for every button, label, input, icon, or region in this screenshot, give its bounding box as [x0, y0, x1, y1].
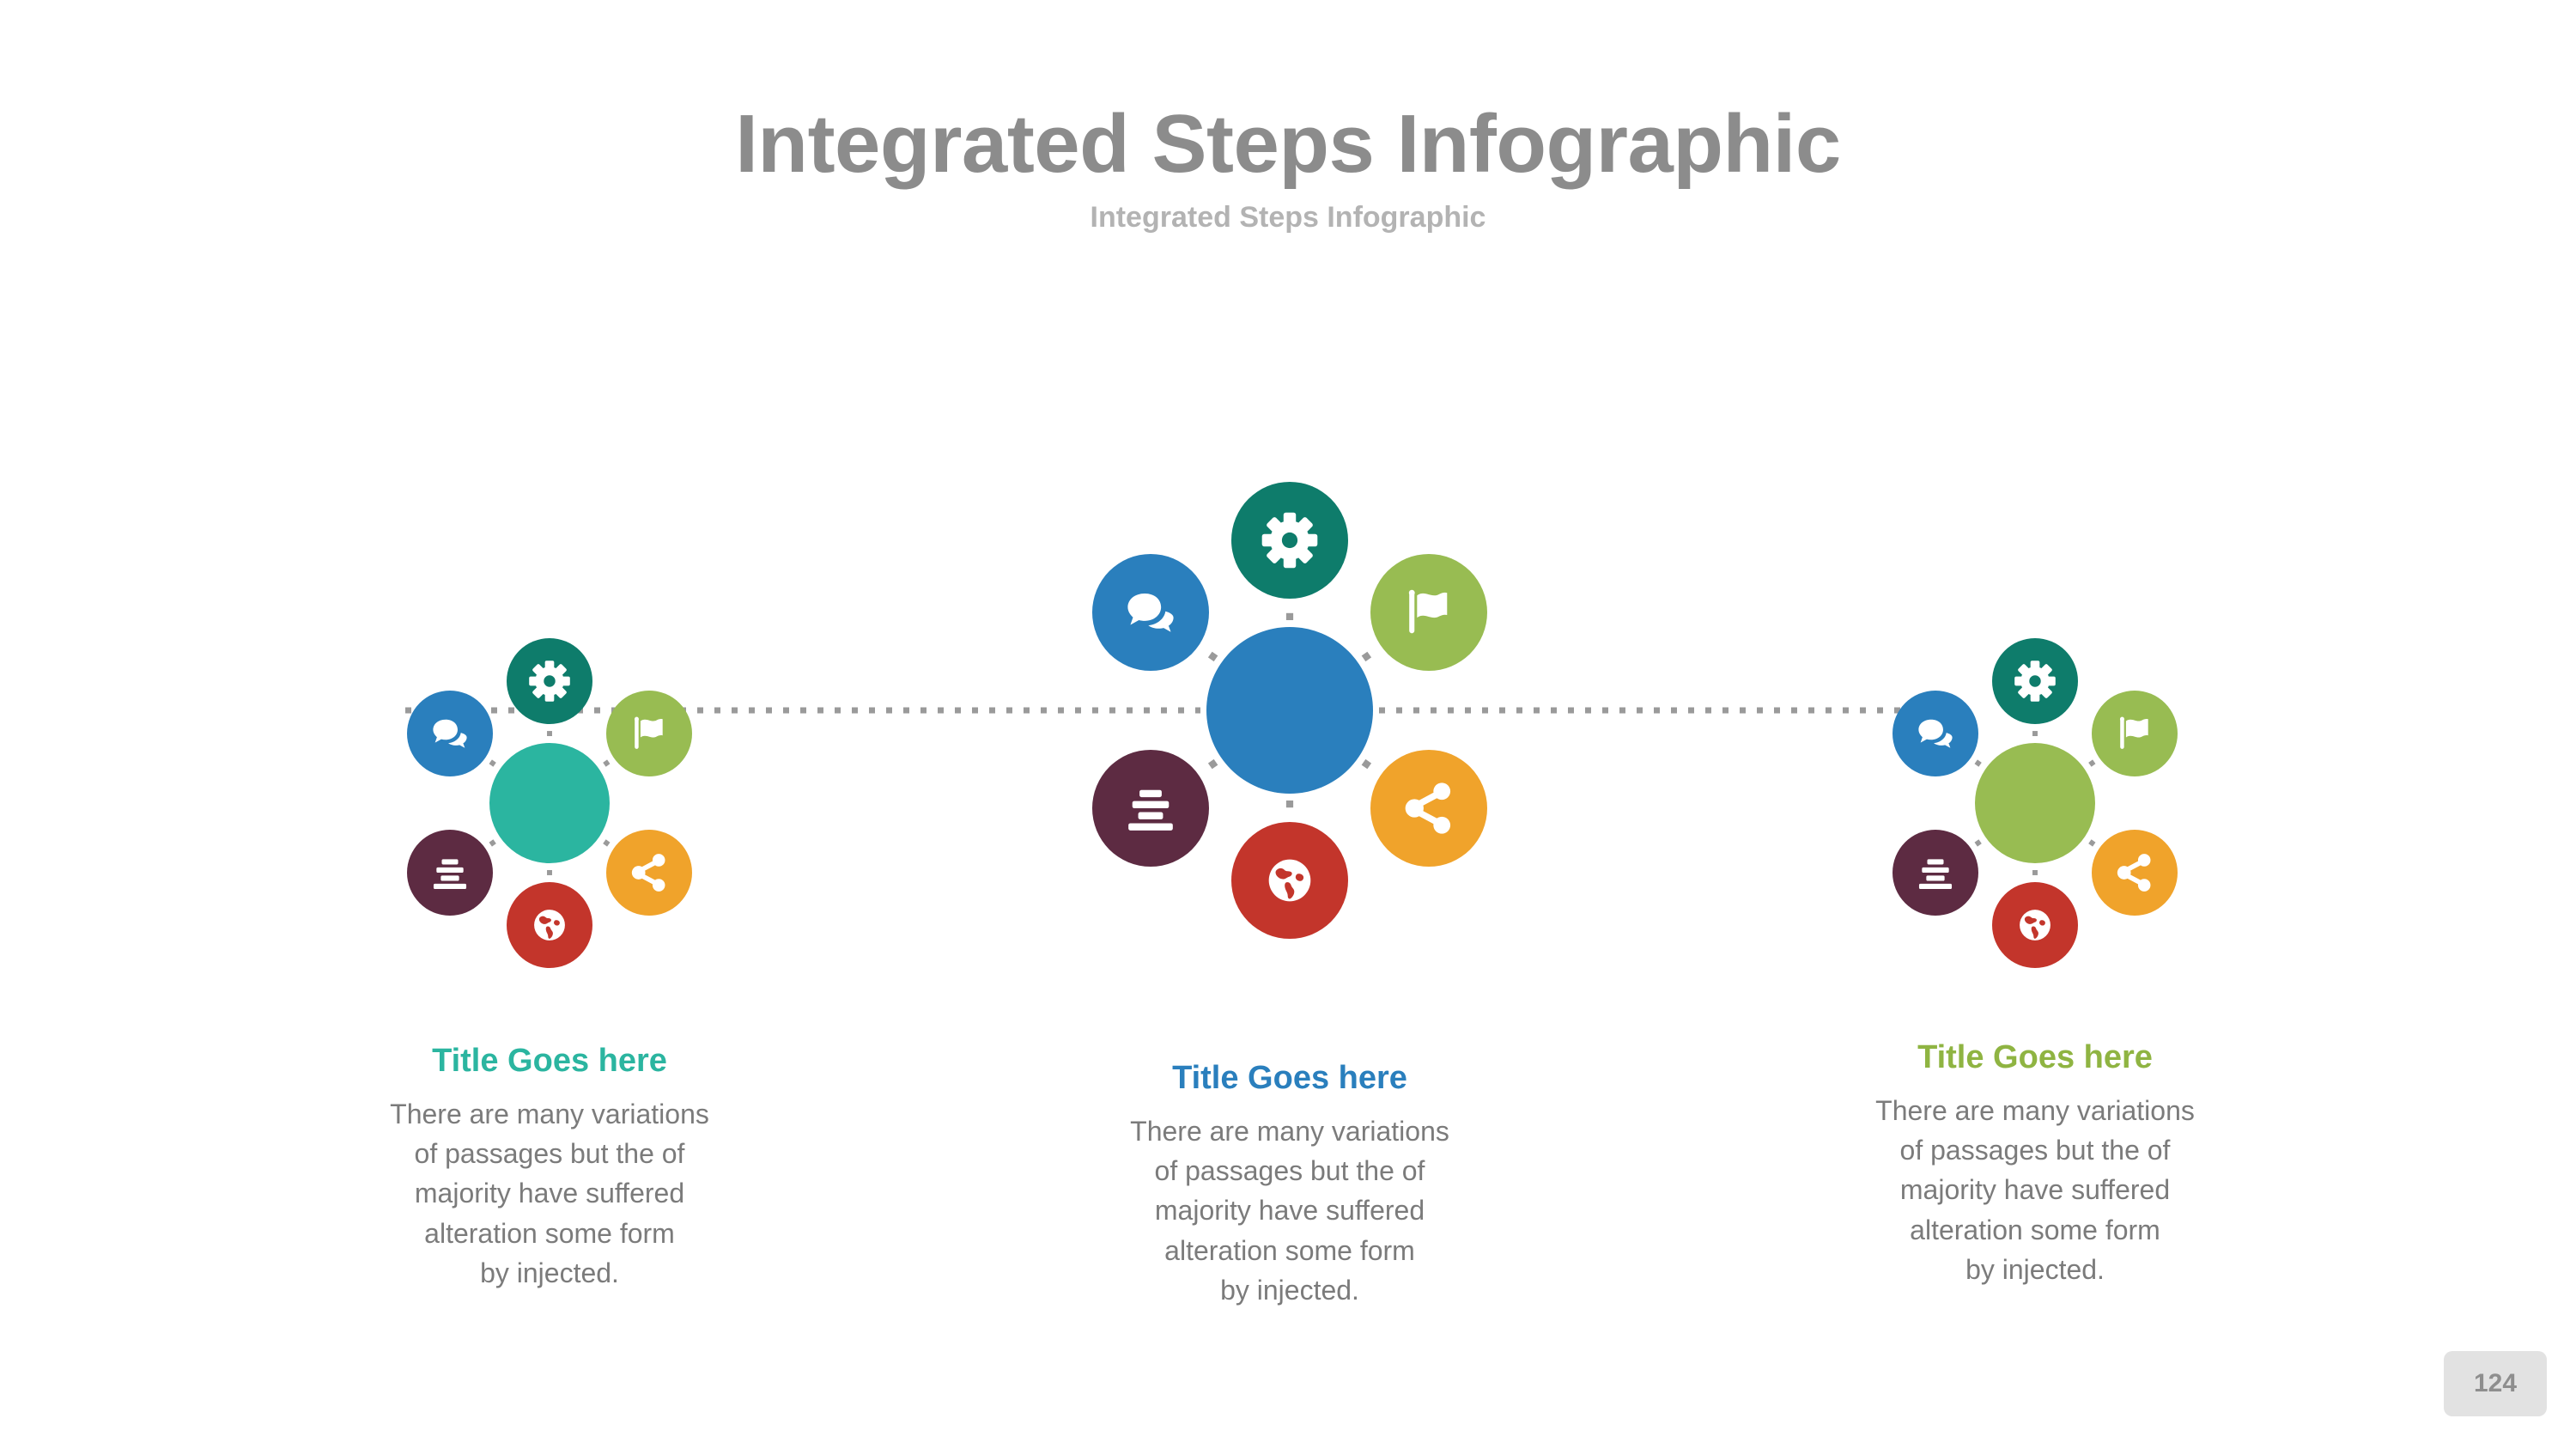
satellite-node-right-share[interactable]	[2092, 830, 2178, 916]
connector-line	[2090, 842, 2094, 844]
caption-body-line: of passages but the of	[309, 1134, 790, 1173]
align-center-icon	[1118, 776, 1183, 841]
caption-body-line: by injected.	[1032, 1270, 1547, 1310]
connector-line	[605, 762, 609, 764]
satellite-node-center-globe[interactable]	[1231, 822, 1348, 939]
page-number-text: 124	[2474, 1369, 2517, 1398]
page-number-badge: 124	[2444, 1351, 2547, 1416]
caption-body-line: majority have suffered	[309, 1173, 790, 1213]
caption-body-line: alteration some form	[1795, 1210, 2275, 1250]
chat-bubbles-icon	[1911, 709, 1959, 758]
gear-icon	[526, 657, 574, 705]
caption-body-left: There are many variationsof passages but…	[309, 1094, 790, 1294]
satellite-node-center-chat[interactable]	[1092, 554, 1209, 671]
satellite-node-right-gear[interactable]	[1992, 638, 2078, 724]
caption-right: Title Goes hereThere are many variations…	[1795, 1038, 2275, 1289]
hub-node-left[interactable]	[489, 743, 610, 863]
satellite-node-right-chat[interactable]	[1893, 691, 1978, 776]
connector-line	[1364, 650, 1376, 659]
connector-line	[490, 842, 495, 844]
caption-body-line: alteration some form	[1032, 1231, 1547, 1270]
caption-body-line: majority have suffered	[1032, 1190, 1547, 1230]
caption-body-line: of passages but the of	[1795, 1130, 2275, 1170]
caption-title-left: Title Goes here	[309, 1041, 790, 1082]
share-icon	[625, 849, 673, 897]
globe-icon	[1257, 848, 1322, 913]
infographic-stage: Title Goes hereThere are many variations…	[0, 0, 2576, 1449]
flag-icon	[625, 709, 673, 758]
caption-body-line: alteration some form	[309, 1214, 790, 1253]
caption-body-line: majority have suffered	[1795, 1170, 2275, 1209]
gear-icon	[2011, 657, 2059, 705]
caption-body-line: by injected.	[1795, 1250, 2275, 1289]
satellite-node-left-align[interactable]	[407, 830, 493, 916]
globe-icon	[526, 901, 574, 949]
chat-bubbles-icon	[426, 709, 474, 758]
chat-bubbles-icon	[1118, 580, 1183, 645]
connector-line	[490, 762, 495, 764]
caption-body-line: There are many variations	[309, 1094, 790, 1134]
share-icon	[2111, 849, 2159, 897]
connector-line	[1204, 762, 1216, 770]
caption-body-line: by injected.	[309, 1253, 790, 1293]
caption-body-line: of passages but the of	[1032, 1151, 1547, 1190]
satellite-node-center-share[interactable]	[1370, 750, 1487, 867]
connector-line	[1976, 762, 1980, 764]
flag-icon	[1396, 580, 1461, 645]
flag-icon	[2111, 709, 2159, 758]
caption-body-right: There are many variationsof passages but…	[1795, 1091, 2275, 1290]
connector-line	[1204, 650, 1216, 659]
satellite-node-center-gear[interactable]	[1231, 482, 1348, 599]
satellite-node-left-share[interactable]	[606, 830, 692, 916]
caption-center: Title Goes hereThere are many variations…	[1032, 1058, 1547, 1310]
caption-body-line: There are many variations	[1032, 1111, 1547, 1151]
caption-left: Title Goes hereThere are many variations…	[309, 1041, 790, 1293]
align-center-icon	[1911, 849, 1959, 897]
caption-body-line: There are many variations	[1795, 1091, 2275, 1130]
caption-title-center: Title Goes here	[1032, 1058, 1547, 1099]
satellite-node-right-align[interactable]	[1893, 830, 1978, 916]
globe-icon	[2011, 901, 2059, 949]
satellite-node-left-chat[interactable]	[407, 691, 493, 776]
connector-line	[1976, 842, 1980, 844]
satellite-node-left-globe[interactable]	[507, 882, 592, 968]
align-center-icon	[426, 849, 474, 897]
caption-title-right: Title Goes here	[1795, 1038, 2275, 1079]
satellite-node-left-gear[interactable]	[507, 638, 592, 724]
hub-node-center[interactable]	[1206, 627, 1373, 794]
hub-node-right[interactable]	[1975, 743, 2095, 863]
satellite-node-center-flag[interactable]	[1370, 554, 1487, 671]
caption-body-center: There are many variationsof passages but…	[1032, 1111, 1547, 1311]
connector-line	[2090, 762, 2094, 764]
satellite-node-right-flag[interactable]	[2092, 691, 2178, 776]
gear-icon	[1257, 508, 1322, 573]
satellite-node-center-align[interactable]	[1092, 750, 1209, 867]
share-icon	[1396, 776, 1461, 841]
satellite-node-right-globe[interactable]	[1992, 882, 2078, 968]
satellite-node-left-flag[interactable]	[606, 691, 692, 776]
connector-line	[1364, 762, 1376, 770]
connector-line	[605, 842, 609, 844]
